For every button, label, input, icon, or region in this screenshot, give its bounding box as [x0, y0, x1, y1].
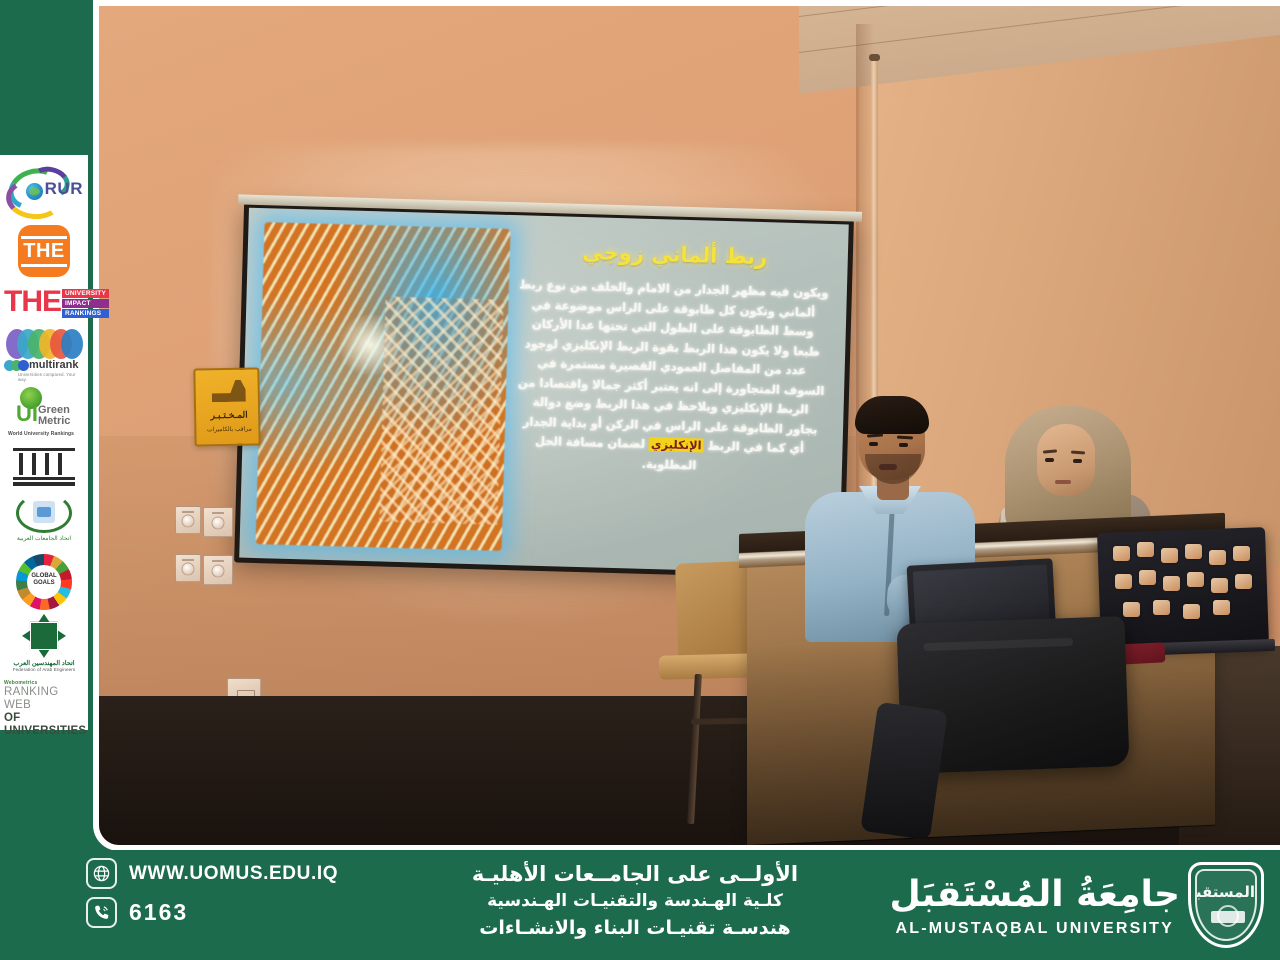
times-higher-education-logo: THE: [4, 225, 84, 277]
greenmetric-word2: Metric: [38, 416, 70, 427]
footer-website-row[interactable]: WWW.UOMUS.EDU.IQ: [86, 858, 386, 889]
laptop-sticker-set: [1109, 540, 1259, 636]
university-name-english: AL-MUSTAQBAL UNIVERSITY: [890, 920, 1181, 938]
woman-eye-right: [1073, 459, 1082, 463]
globe-www-icon: [86, 858, 117, 889]
eight-point-star-icon: [22, 614, 66, 658]
woman-eye-left: [1045, 458, 1054, 462]
globe-icon: [26, 183, 43, 200]
impact-line-3: RANKINGS: [62, 309, 109, 318]
crest-book-icon: [1211, 911, 1245, 923]
university-crest-icon: المستقبل: [1188, 862, 1264, 948]
arab-universities-label: اتحاد الجامعات العربية: [7, 535, 81, 542]
the-impact-rankings-logo: THE UNIVERSITY IMPACT RANKINGS: [4, 281, 84, 325]
open-book-icon: [33, 501, 55, 523]
footer-arabic-line-2: كلـية الهـندسة والتقنيـات الهـندسية: [400, 888, 870, 914]
classroom-presentation-photo: ربط ألماني زوجي ويكون فيه مظهر الجدار من…: [99, 6, 1280, 845]
projected-slide: ربط ألماني زوجي ويكون فيه مظهر الجدار من…: [239, 208, 849, 575]
greenmetric-tagline: World University Rankings: [8, 431, 74, 437]
footer-phone-row[interactable]: 6163: [86, 897, 386, 928]
slide-text-block: ربط ألماني زوجي ويكون فيه مظهر الجدار من…: [514, 235, 830, 479]
ui-greenmetric-logo: UI Green Metric World University Ranking…: [4, 387, 84, 443]
light-switch-3[interactable]: [175, 554, 201, 582]
accreditation-logo-sidebar: RUR THE THE UNIVERSITY IMPACT RANKINGS: [0, 155, 88, 730]
man-eye-right: [899, 443, 908, 447]
fae-english-label: Federation of Arab Engineers: [9, 667, 79, 672]
impact-line-1: UNIVERSITY: [62, 289, 109, 298]
whiteboard: ربط ألماني زوجي ويكون فيه مظهر الجدار من…: [234, 203, 854, 580]
university-name-arabic: جامِعَةُ المُسْتَقبَل: [890, 872, 1181, 918]
slide-body: ويكون فيه مظهر الجدار من الامام والخلف م…: [514, 275, 829, 479]
sdg-center-label: GLOBAL GOALS: [27, 573, 61, 587]
footer-arabic-line-3: هندسـة تقنيـات البناء والانشـاءات: [400, 914, 870, 942]
sign-line-2: مراقب بالكاميرات: [198, 425, 260, 433]
warning-pictogram-icon: [212, 380, 246, 403]
federation-arab-engineers-logo: اتحاد المهندسين العرب Federation of Arab…: [4, 614, 84, 676]
man-mouth: [879, 464, 897, 470]
footer-contact-block: WWW.UOMUS.EDU.IQ 6163: [86, 858, 386, 928]
conduit-bracket: [869, 54, 880, 61]
impact-line-2: IMPACT: [62, 299, 109, 308]
photo-frame: ربط ألماني زوجي ويكون فيه مظهر الجدار من…: [93, 0, 1280, 851]
sign-line-1: المـخـتـبـر: [200, 409, 258, 421]
slide-body-before: ويكون فيه مظهر الجدار من الامام والخلف م…: [518, 277, 829, 455]
footer-bar: WWW.UOMUS.EDU.IQ 6163 الأولــى على الجام…: [0, 850, 1280, 960]
webometrics-line2: OF UNIVERSITIES: [4, 712, 84, 738]
crest-arabic-label: المستقبل: [1197, 883, 1255, 901]
multirank-tagline: Universities compared. Your way.: [18, 372, 84, 382]
sdg-global-goals-logo: GLOBAL GOALS: [4, 554, 84, 610]
association-arab-universities-logo: اتحاد الجامعات العربية: [4, 492, 84, 550]
footer-website-label: WWW.UOMUS.EDU.IQ: [129, 863, 338, 885]
university-name-text: جامِعَةُ المُسْتَقبَل AL-MUSTAQBAL UNIVE…: [890, 872, 1181, 938]
brick-masonry-bond-photo: [256, 222, 511, 551]
phone-ring-icon: [86, 897, 117, 928]
light-switch-2[interactable]: [203, 507, 233, 537]
fae-arabic-label: اتحاد المهندسين العرب: [9, 659, 79, 667]
footer-arabic-line-1: الأولــى على الجامــعات الأهليـة: [400, 860, 870, 888]
light-switch-1[interactable]: [175, 506, 201, 534]
university-brand-block: جامِعَةُ المُسْتَقبَل AL-MUSTAQBAL UNIVE…: [890, 862, 1265, 948]
webometrics-line1: RANKING WEB: [4, 686, 84, 712]
slide-highlighted-term: الإنكليزي: [649, 437, 704, 453]
webometrics-logo: Webometrics RANKING WEB OF UNIVERSITIES: [4, 680, 84, 720]
the-logo-label: THE: [21, 236, 67, 267]
laboratory-warning-sign: المـخـتـبـر مراقب بالكاميرات: [193, 367, 260, 446]
footer-arabic-block: الأولــى على الجامــعات الأهليـة كلـية ا…: [400, 860, 870, 942]
umultirank-logo: multirank Universities compared. Your wa…: [4, 329, 84, 383]
rur-ranking-logo: RUR: [4, 163, 84, 221]
slide-image-highlight: [334, 314, 406, 376]
light-switch-4[interactable]: [203, 555, 233, 585]
rur-logo-label: RUR: [45, 179, 83, 199]
the-impact-mark: THE: [4, 281, 61, 325]
multirank-label: multirank: [29, 359, 79, 371]
seated-presenter-hair: [855, 396, 929, 434]
footer-phone-label: 6163: [129, 899, 188, 926]
poster-root: RUR THE THE UNIVERSITY IMPACT RANKINGS: [0, 0, 1280, 960]
woman-mouth: [1055, 480, 1071, 484]
man-eye-left: [869, 442, 878, 446]
greenmetric-ui: UI: [16, 403, 38, 425]
ministry-columns-logo: [4, 448, 84, 488]
